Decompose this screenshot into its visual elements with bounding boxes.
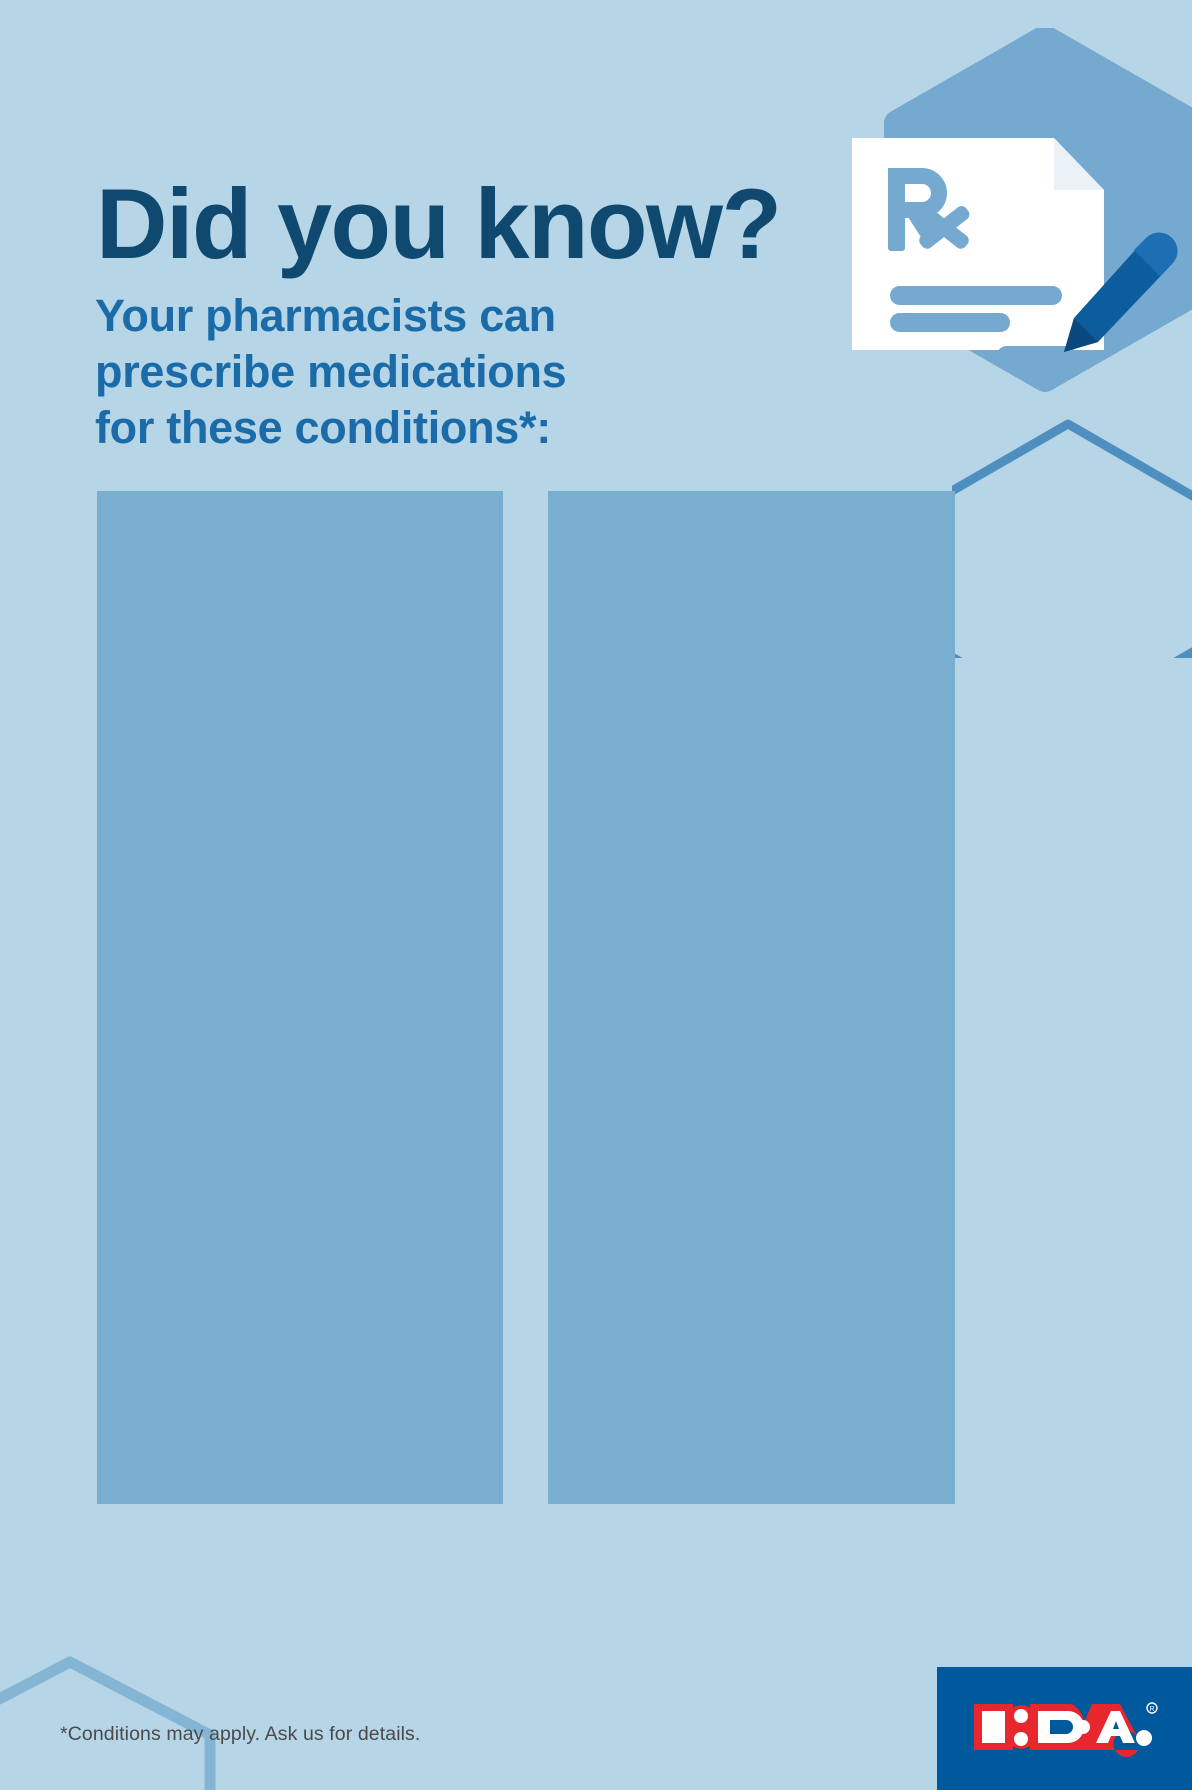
poster-canvas: Did you know? Your pharmacists can presc…: [0, 0, 1192, 1790]
svg-text:R: R: [1149, 1706, 1154, 1713]
conditions-column-right[interactable]: [548, 491, 955, 1504]
decorative-hexagon-right: [952, 418, 1192, 658]
ida-logo: R: [937, 1667, 1192, 1790]
subheading-line-3: for these conditions*:: [95, 400, 566, 456]
subheading-line-1: Your pharmacists can: [95, 288, 566, 344]
subheading-line-2: prescribe medications: [95, 344, 566, 400]
document-line-2: [890, 313, 1010, 332]
document-line-1: [890, 286, 1062, 305]
footnote-disclaimer: *Conditions may apply. Ask us for detail…: [60, 1723, 420, 1746]
ida-wordmark-icon: R: [968, 1696, 1164, 1758]
signature-line: [997, 346, 1076, 365]
prescription-document-icon: [852, 138, 1104, 365]
conditions-column-left[interactable]: [97, 491, 503, 1504]
conditions-panels: [97, 491, 955, 1504]
prescription-badge: [748, 28, 1192, 448]
page-headline: Did you know?: [96, 174, 780, 273]
decorative-hexagon-bottom-left: [0, 1640, 290, 1790]
page-subheading: Your pharmacists can prescribe medicatio…: [95, 288, 566, 455]
